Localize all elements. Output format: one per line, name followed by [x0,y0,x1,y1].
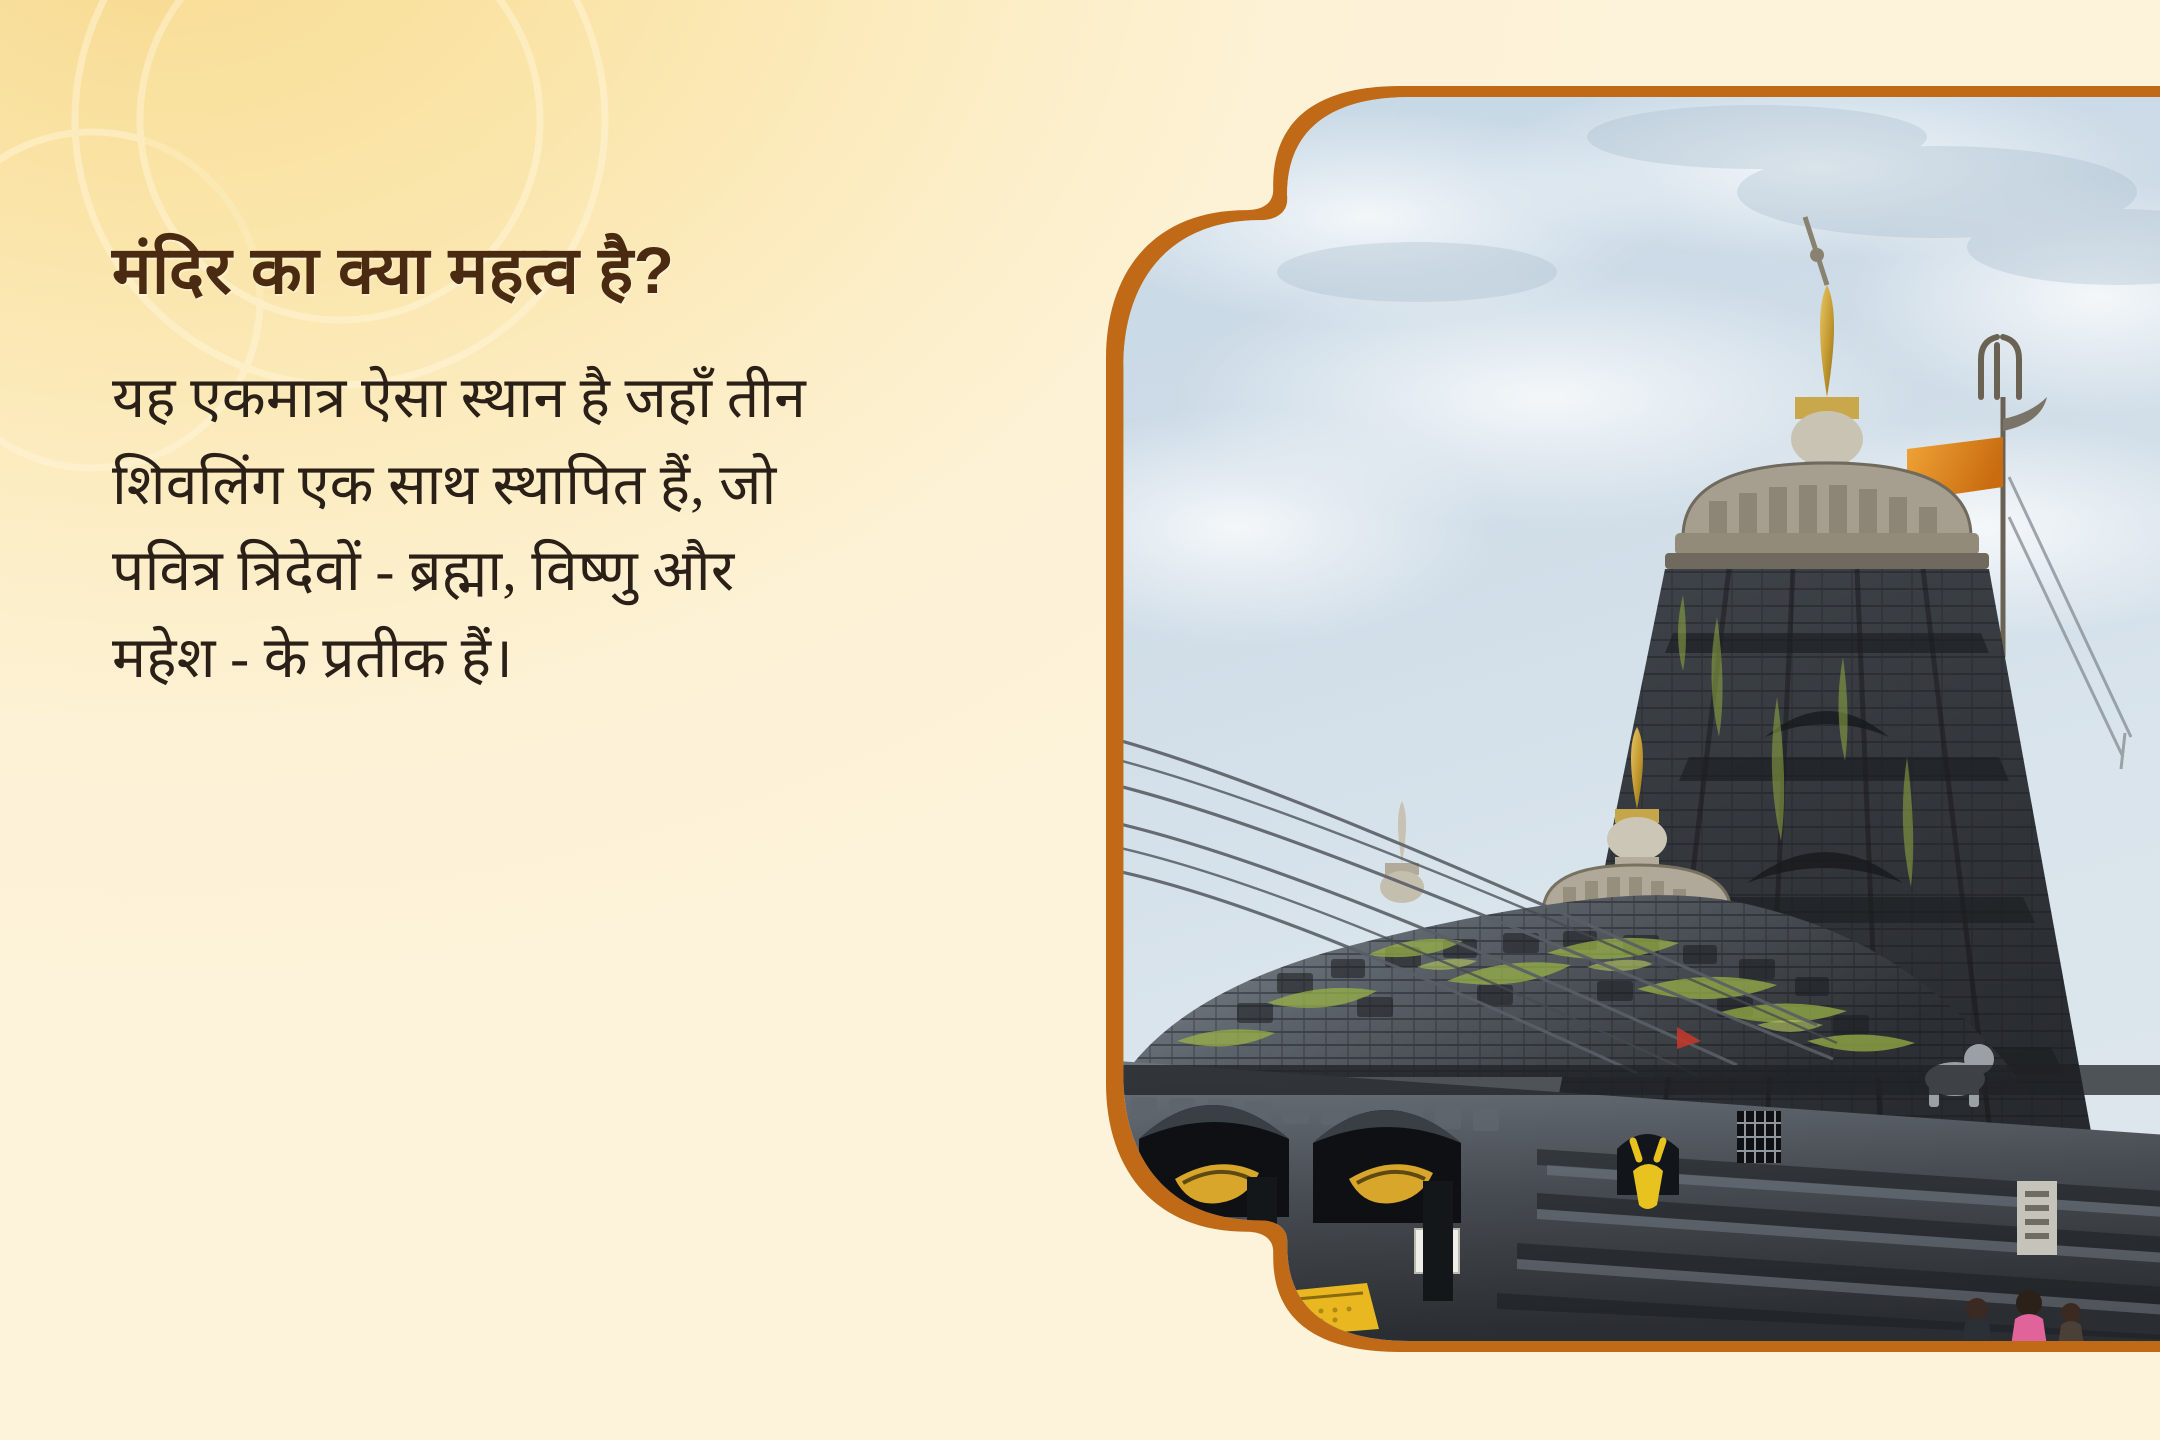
body-paragraph: यह एकमात्र ऐसा स्थान है जहाँ तीन शिवलिंग… [112,356,1052,703]
body-line: महेश - के प्रतीक हैं। [112,616,1052,703]
body-line: शिवलिंग एक साथ स्थापित हैं, जो [112,443,1052,530]
body-line: पवित्र त्रिदेवों - ब्रह्मा, विष्णु और [112,529,1052,616]
body-line: यह एकमात्र ऐसा स्थान है जहाँ तीन [112,356,1052,443]
temple-photo-frame [1106,86,2160,1352]
page-title: मंदिर का क्या महत्व है? [112,232,1052,310]
text-column: मंदिर का क्या महत्व है? यह एकमात्र ऐसा स… [112,232,1052,702]
infographic-card: मंदिर का क्या महत्व है? यह एकमात्र ऐसा स… [0,0,2160,1440]
temple-photo [1117,97,2160,1341]
